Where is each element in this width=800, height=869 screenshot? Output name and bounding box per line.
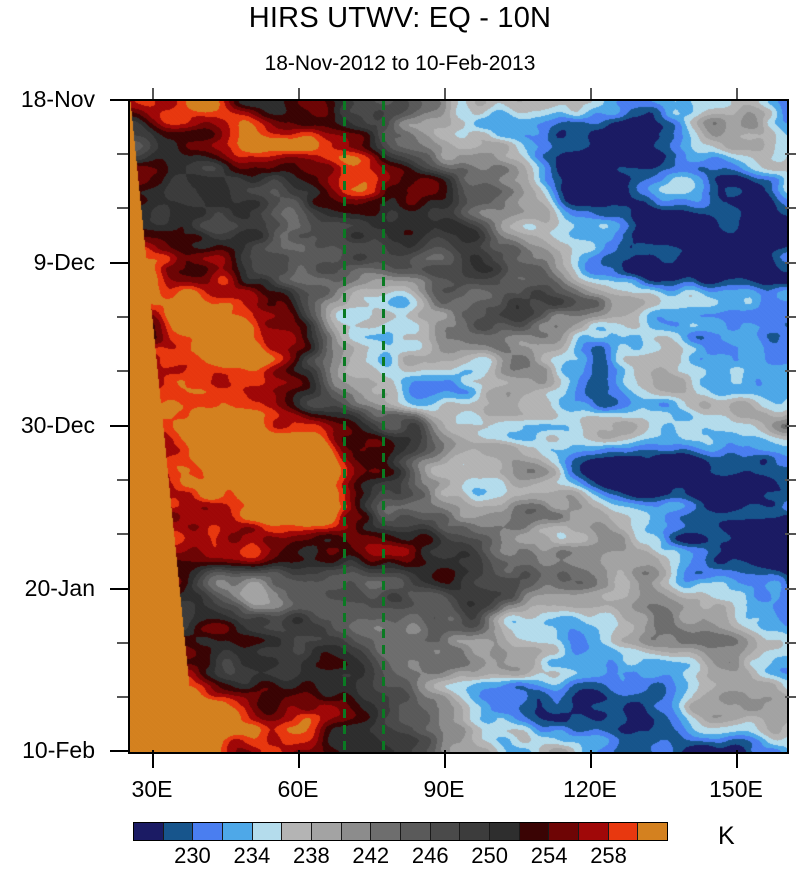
x-tick-top bbox=[590, 88, 592, 99]
x-tick-major bbox=[444, 750, 446, 768]
y-tick-minor bbox=[117, 370, 128, 372]
y-tick-right bbox=[785, 316, 796, 318]
colorbar-swatch-16 bbox=[609, 823, 639, 840]
y-tick-right bbox=[785, 479, 796, 481]
y-axis-label-4: 10-Feb bbox=[0, 737, 95, 764]
x-tick-major bbox=[736, 750, 738, 768]
x-tick-major bbox=[590, 750, 592, 768]
hovmoller-plot bbox=[128, 99, 789, 754]
y-tick-right bbox=[785, 262, 796, 264]
colorbar-swatch-5 bbox=[282, 823, 312, 840]
y-tick-right bbox=[785, 207, 796, 209]
y-tick-minor bbox=[117, 316, 128, 318]
x-axis-label-4: 150E bbox=[676, 776, 796, 803]
y-axis-label-0: 18-Nov bbox=[0, 86, 95, 113]
y-axis-label-1: 9-Dec bbox=[0, 249, 95, 276]
colorbar-swatch-13 bbox=[520, 823, 550, 840]
x-tick-major bbox=[152, 750, 154, 768]
x-axis-label-1: 60E bbox=[238, 776, 358, 803]
colorbar-swatch-1 bbox=[164, 823, 194, 840]
x-tick-major bbox=[298, 750, 300, 768]
colorbar-swatch-14 bbox=[549, 823, 579, 840]
y-tick-major bbox=[110, 425, 128, 427]
y-tick-minor bbox=[117, 533, 128, 535]
colorbar-swatch-10 bbox=[431, 823, 461, 840]
y-tick-right bbox=[785, 696, 796, 698]
y-tick-right bbox=[785, 642, 796, 644]
colorbar-swatch-17 bbox=[638, 823, 667, 840]
colorbar-swatch-9 bbox=[401, 823, 431, 840]
colorbar bbox=[133, 822, 668, 841]
y-tick-right bbox=[785, 588, 796, 590]
colorbar-swatch-6 bbox=[312, 823, 342, 840]
colorbar-tick-label-258: 258 bbox=[569, 843, 649, 869]
colorbar-swatch-0 bbox=[134, 823, 164, 840]
x-tick-top bbox=[152, 88, 154, 99]
colorbar-swatch-7 bbox=[342, 823, 372, 840]
colorbar-swatch-15 bbox=[579, 823, 609, 840]
x-tick-top bbox=[444, 88, 446, 99]
colorbar-swatch-12 bbox=[490, 823, 520, 840]
y-tick-minor bbox=[117, 642, 128, 644]
y-axis-label-3: 20-Jan bbox=[0, 575, 95, 602]
y-tick-right bbox=[785, 370, 796, 372]
y-tick-major bbox=[110, 99, 128, 101]
colorbar-swatch-11 bbox=[460, 823, 490, 840]
x-axis-label-0: 30E bbox=[92, 776, 212, 803]
y-tick-major bbox=[110, 588, 128, 590]
y-tick-minor bbox=[117, 153, 128, 155]
x-axis-label-3: 120E bbox=[530, 776, 650, 803]
y-tick-right bbox=[785, 425, 796, 427]
y-axis-label-2: 30-Dec bbox=[0, 412, 95, 439]
y-tick-minor bbox=[117, 696, 128, 698]
colorbar-unit-label: K bbox=[718, 822, 735, 851]
y-tick-right bbox=[785, 533, 796, 535]
x-tick-top bbox=[736, 88, 738, 99]
y-tick-minor bbox=[117, 207, 128, 209]
contour-field bbox=[130, 101, 787, 752]
colorbar-swatch-4 bbox=[253, 823, 283, 840]
colorbar-swatch-3 bbox=[223, 823, 253, 840]
y-tick-major bbox=[110, 262, 128, 264]
y-tick-minor bbox=[117, 479, 128, 481]
y-tick-right bbox=[785, 153, 796, 155]
x-tick-top bbox=[298, 88, 300, 99]
green-dashed-line-east bbox=[382, 101, 385, 752]
y-tick-major bbox=[110, 750, 128, 752]
colorbar-swatch-8 bbox=[371, 823, 401, 840]
x-axis-label-2: 90E bbox=[384, 776, 504, 803]
green-dashed-line-west bbox=[343, 101, 346, 752]
page-subtitle: 18-Nov-2012 to 10-Feb-2013 bbox=[0, 52, 800, 76]
page-title: HIRS UTWV: EQ - 10N bbox=[0, 2, 800, 35]
colorbar-swatch-2 bbox=[193, 823, 223, 840]
